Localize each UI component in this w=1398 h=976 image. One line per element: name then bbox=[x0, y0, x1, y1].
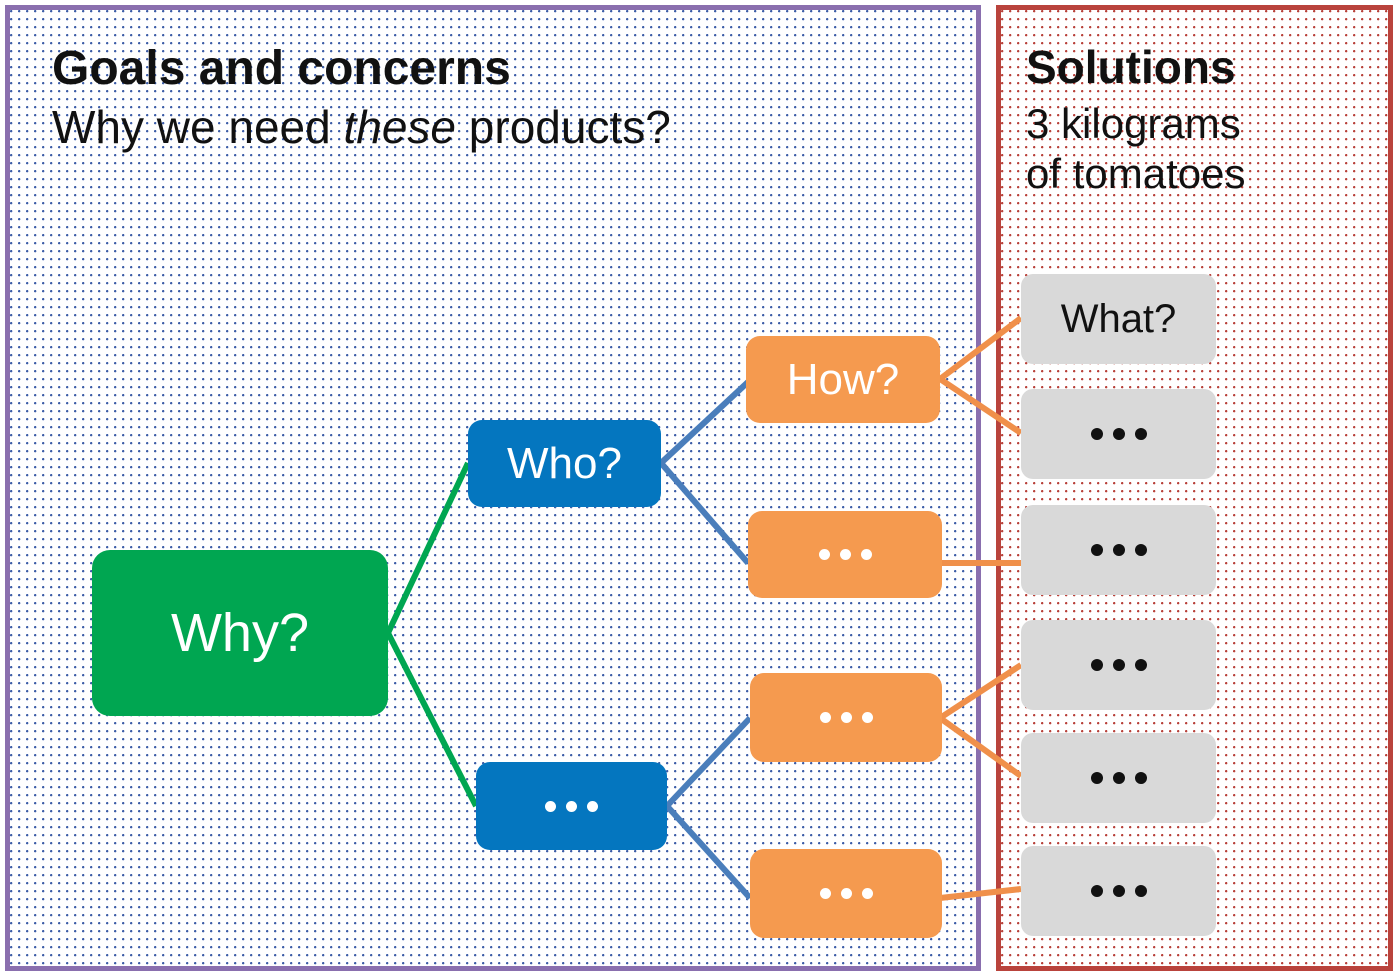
node-solution-3[interactable] bbox=[1021, 505, 1216, 595]
goals-subtitle-before: Why we need bbox=[52, 101, 343, 153]
node-solution-5[interactable] bbox=[1021, 733, 1216, 823]
node-solution-2-label bbox=[1091, 428, 1147, 440]
node-how-label: How? bbox=[787, 358, 900, 402]
node-solution-4[interactable] bbox=[1021, 620, 1216, 710]
node-solution-6[interactable] bbox=[1021, 846, 1216, 936]
node-who-ellipsis[interactable] bbox=[476, 762, 667, 850]
node-solution-3-label bbox=[1091, 544, 1147, 556]
solutions-subtitle-line-2: of tomatoes bbox=[1026, 152, 1245, 196]
node-solution-what-label: What? bbox=[1061, 299, 1177, 339]
goals-subtitle-emphasis: these bbox=[343, 101, 456, 153]
node-how-ellipsis-2[interactable] bbox=[750, 673, 942, 762]
goals-panel-title: Goals and concerns bbox=[52, 44, 511, 94]
node-how-ellipsis-2-label bbox=[820, 712, 873, 723]
node-solution-5-label bbox=[1091, 772, 1147, 784]
node-who[interactable]: Who? bbox=[468, 420, 661, 507]
node-who-label: Who? bbox=[507, 442, 622, 486]
node-how-ellipsis-3[interactable] bbox=[750, 849, 942, 938]
node-why-label: Why? bbox=[171, 606, 309, 660]
node-solution-what[interactable]: What? bbox=[1021, 274, 1216, 364]
node-how-ellipsis-1-label bbox=[819, 549, 872, 560]
goals-subtitle-after: products? bbox=[456, 101, 671, 153]
goals-panel-subtitle: Why we need these products? bbox=[52, 104, 671, 152]
node-why[interactable]: Why? bbox=[92, 550, 388, 716]
solutions-panel-title: Solutions bbox=[1026, 44, 1236, 92]
node-who-ellipsis-label bbox=[545, 801, 598, 812]
diagram-canvas: Goals and concerns Why we need these pro… bbox=[0, 0, 1398, 976]
node-how-ellipsis-3-label bbox=[820, 888, 873, 899]
node-how[interactable]: How? bbox=[746, 336, 940, 423]
node-solution-6-label bbox=[1091, 885, 1147, 897]
node-solution-2[interactable] bbox=[1021, 389, 1216, 479]
solutions-subtitle-line-1: 3 kilograms bbox=[1026, 102, 1241, 146]
node-how-ellipsis-1[interactable] bbox=[748, 511, 942, 598]
node-solution-4-label bbox=[1091, 659, 1147, 671]
